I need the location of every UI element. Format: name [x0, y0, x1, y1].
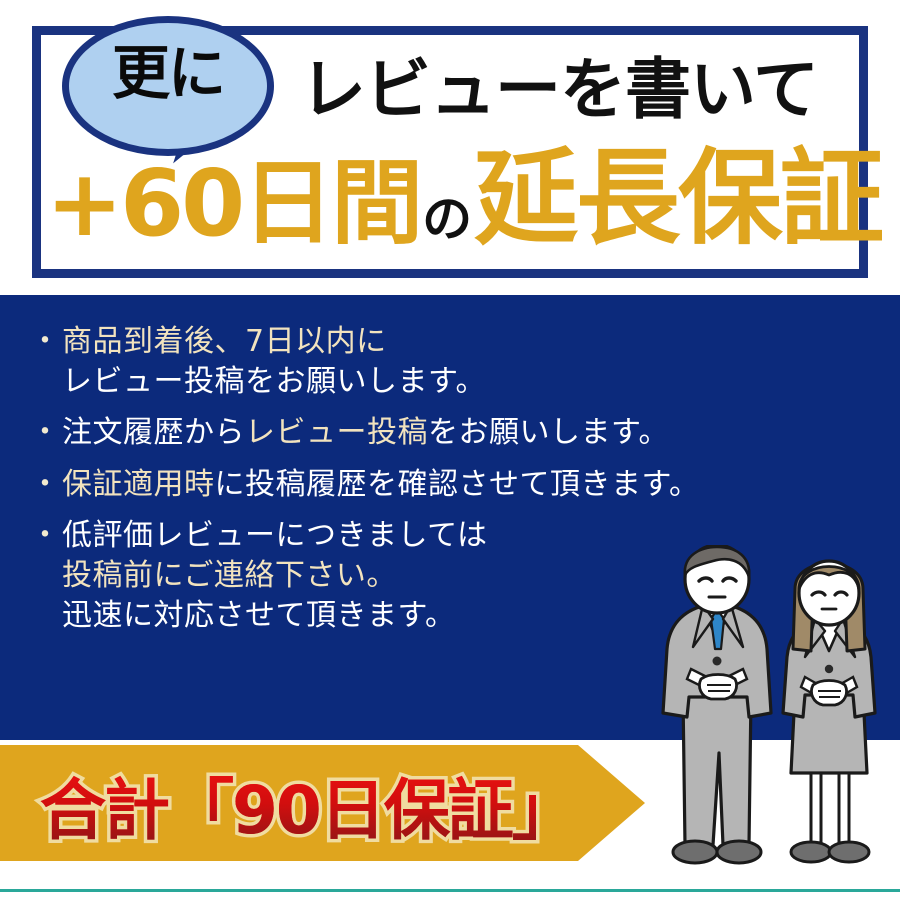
- bullet-text-lines: 注文履歴からレビュー投稿をお願いします。: [62, 413, 830, 453]
- bullet-marker: ・: [30, 413, 62, 453]
- bullet-marker: ・: [30, 322, 62, 362]
- bullet-text-lines: 商品到着後、7日以内に レビュー投稿をお願いします。: [62, 322, 830, 401]
- businesswoman-figure: [783, 561, 875, 862]
- businessman-right-shoe: [717, 841, 761, 863]
- speech-bubble: 更に: [62, 16, 274, 174]
- bullet-segment-highlight: 保証適用時: [62, 467, 215, 502]
- bullet-segment-highlight: レビュー投稿: [245, 415, 428, 450]
- bullet-marker: ・: [30, 516, 62, 556]
- speech-bubble-text: 更に: [62, 44, 274, 102]
- bullet-line: 保証適用時に投稿履歴を確認させて頂きます。: [62, 465, 830, 505]
- list-item: ・ 注文履歴からレビュー投稿をお願いします。: [30, 413, 830, 453]
- bullet-segment: に投稿履歴を確認させて頂きます。: [215, 467, 700, 502]
- headline-extended-warranty: 延長保証: [474, 146, 882, 250]
- businessman-figure: [663, 545, 771, 863]
- bullet-segment: 注文履歴から: [62, 415, 245, 450]
- bullet-segment: をお願いします。: [428, 415, 669, 450]
- businesswoman-left-shoe: [791, 842, 831, 862]
- headline-particle-no: の: [420, 194, 474, 250]
- bullet-line: 商品到着後、7日以内に: [62, 322, 830, 362]
- businessman-jacket-button: [713, 657, 722, 666]
- total-warranty-text: 合計「90日保証」: [40, 762, 600, 848]
- businesswoman-jacket-button: [825, 665, 833, 673]
- bullet-line: レビュー投稿をお願いします。: [62, 362, 830, 402]
- promo-banner: レビューを書いて +60日間 の 延長保証 更に ・ 商品到着後、7日以内に レ…: [0, 0, 900, 900]
- businesswoman-left-leg: [811, 773, 821, 845]
- businessman-clasped-hands: [699, 675, 736, 700]
- bullet-marker: ・: [30, 465, 62, 505]
- businesswoman-right-leg: [839, 773, 849, 845]
- businessman-left-shoe: [673, 841, 717, 863]
- bullet-text-lines: 保証適用時に投稿履歴を確認させて頂きます。: [62, 465, 830, 505]
- bullet-line: 注文履歴からレビュー投稿をお願いします。: [62, 413, 830, 453]
- headline-review-line: レビューを書いて: [300, 36, 880, 132]
- businesswoman-right-shoe: [829, 842, 869, 862]
- bowing-business-people-illustration: [655, 545, 900, 890]
- bottom-teal-rule: [0, 889, 900, 892]
- businesswoman-clasped-hands: [811, 681, 846, 706]
- list-item: ・ 保証適用時に投稿履歴を確認させて頂きます。: [30, 465, 830, 505]
- businessman-trousers: [683, 695, 751, 845]
- list-item: ・ 商品到着後、7日以内に レビュー投稿をお願いします。: [30, 322, 830, 401]
